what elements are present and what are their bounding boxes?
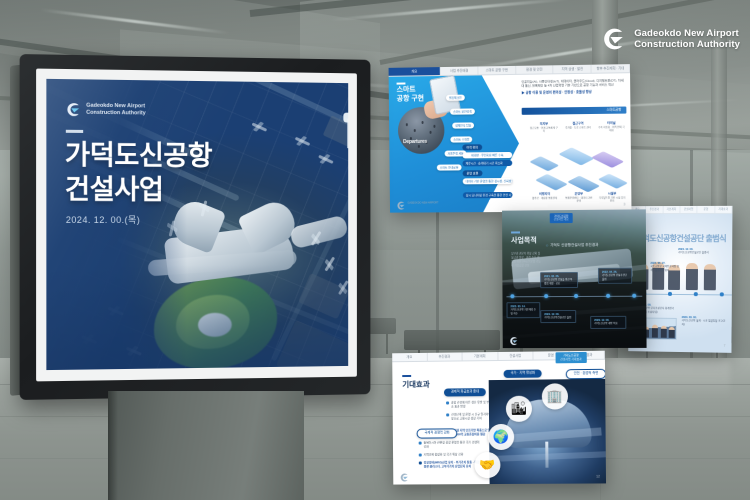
history-page-number: 7 xyxy=(724,344,726,348)
title-rule xyxy=(66,130,83,133)
history-dot-1 xyxy=(668,292,672,296)
effects-nav-tab-3[interactable]: 건설사업 xyxy=(498,352,534,360)
cover-brand-lockup: Gadeokdo New Airport Construction Author… xyxy=(65,101,146,118)
history-nav-tab-5[interactable]: 기대효과 xyxy=(715,206,732,213)
chip-5: 스마트 안내로봇 xyxy=(437,164,462,170)
effects-title-rule xyxy=(402,375,411,377)
effects-nav-tab-0[interactable]: 개요 xyxy=(392,353,427,361)
effects-page-number: 12 xyxy=(596,474,600,478)
effects-tag-3: 국제적 경쟁력 강화 xyxy=(417,428,458,438)
slide-page-number: 3 xyxy=(623,202,625,206)
node-label-4: 운영부 xyxy=(565,191,593,195)
cover-title-line-1: 가덕도신공항 xyxy=(65,138,212,173)
sub-item-0: 비대면 · 무인화된 빠른 수속 xyxy=(462,152,512,158)
sub-item-1: 체류시간 · 승객대기 시간 최소화 xyxy=(462,160,512,166)
nav-tab-3[interactable]: 환경 및 안전 xyxy=(516,65,554,74)
node-label-1: 접근구역 xyxy=(564,121,592,125)
gadeokdo-swoosh-logo-icon xyxy=(600,26,626,52)
node-label-3: 비행지역 xyxy=(531,192,559,196)
iso-block-1 xyxy=(558,147,594,165)
purpose-title-rule xyxy=(511,231,520,233)
smart-lead-text: 인공지능(AI), 사물인터넷(IoT), 빅데이터, 클라우드(Cloud),… xyxy=(521,78,626,88)
effects-tag-0: 국가 · 지역 활성화 xyxy=(504,370,542,378)
smart-airport-body: 인공지능(AI), 사물인터넷(IoT), 빅데이터, 클라우드(Cloud),… xyxy=(521,78,626,95)
cover-title-line-2: 건설사업 xyxy=(65,172,212,207)
effects-tag-1: 안전 · 환경적 측면 xyxy=(566,369,606,379)
sub-item-3: 상시 모니터링 환경 구축을 통한 안전 사고의 사전 예방 xyxy=(463,192,513,198)
timeline-dot-3 xyxy=(606,294,610,298)
history-nav-tab-2[interactable]: 기본계획 xyxy=(663,206,680,213)
cover-brand-line-2: Construction Authority xyxy=(86,110,146,117)
nav-tab-0[interactable]: 개요 xyxy=(389,67,441,76)
timeline-text-2: 가덕도신공항 기본계획 수립 착수 xyxy=(510,309,536,315)
timeline-card-3: 2024. 12. 00. 가덕도신공항건설공단 출범 xyxy=(540,310,576,323)
history-text-1: 국토교통부 국제항공과장 참석 · 설립위원 위촉 xyxy=(650,265,680,272)
node-desc-5: 디지털트윈 기반 시설 유지관리 xyxy=(598,196,626,203)
slide-footer-logo: GADEOKDO NEW AIRPORT xyxy=(396,197,439,207)
history-text-0: 가덕도신공항건설공단 출범식 xyxy=(678,251,726,255)
slide-footer-text: GADEOKDO NEW AIRPORT xyxy=(408,201,439,204)
brand-text: Gadeokdo New Airport Construction Author… xyxy=(634,28,740,51)
timeline-card-1: 2022. 04. 26. 가덕도신공항 건설추진단 출범 xyxy=(598,268,632,284)
cover-slide: Gadeokdo New Airport Construction Author… xyxy=(46,79,348,370)
departures-label: Departures xyxy=(403,139,427,145)
effects-item-3-2: 항공정비(MRO)산업 유치 · 부가가치 창출 · 복합물류 클러스터, 고부… xyxy=(419,460,481,468)
slide-expected-effects[interactable]: 개요 추진경과 기본계획 건설사업 운영 기대효과 가덕도신공항 건설사업 기대… xyxy=(392,351,606,485)
purpose-side-text: 남부권 관문의 위상 강화 및 동남권 물류 · 여객 수요 대응을 위한 24… xyxy=(511,252,541,268)
node-desc-4: 통합운영센터 · 데이터 기반 운영 xyxy=(565,196,593,203)
cover-brand-text: Gadeokdo New Airport Construction Author… xyxy=(86,103,146,117)
iso-block-5 xyxy=(598,174,628,189)
timeline-dot-1 xyxy=(544,294,548,298)
building-icon: 🏢 xyxy=(542,383,568,409)
timeline-card-2: 2023. 03. 14. 가덕도신공항 기본계획 수립 착수 xyxy=(506,302,540,318)
block-title-0: 여객 편의 xyxy=(462,144,482,150)
cover-date: 2024. 12. 00.(목) xyxy=(66,213,140,226)
history-card-1: 2024. 06. 27. 국토교통부 국제항공과장 참석 · 설립위원 위촉 xyxy=(650,262,680,272)
globe-icon: 🌍 xyxy=(488,424,514,450)
chip-3: 스마트 수하물 xyxy=(450,136,472,142)
effects-nav-tab-2[interactable]: 기본계획 xyxy=(463,352,498,360)
timeline-card-0: 2021. 02. 26. 가덕도신공항 건설을 위한 특별법 제정 · 공포 xyxy=(540,272,578,288)
history-dot-2 xyxy=(694,292,698,296)
nav-tab-2[interactable]: 스마트 공항 구현 xyxy=(478,66,516,75)
slide-business-purpose[interactable]: 가덕도신공항 건설사업 개요 사업목적 남부권 관문의 위상 강화 및 동남권 … xyxy=(502,209,647,348)
timeline-text-3: 가덕도신공항건설공단 출범 xyxy=(544,316,572,319)
history-text-3: 가덕도신공항 설계 · 시공 일괄입찰 공고(3차) xyxy=(682,319,726,326)
block-title-1: 운영 효율 xyxy=(463,170,483,176)
brand-line-1: Gadeokdo New Airport xyxy=(634,28,740,40)
smart-lead-highlight: ▶ 공항 이용 및 운영의 편의성 · 안정성 · 효율성 향상 xyxy=(521,90,626,96)
node-desc-2: 수속 자동화 · 여객 편의 극대화 xyxy=(597,126,625,133)
smart-title-line-2: 공항 구현 xyxy=(397,94,424,103)
gadeokdo-swoosh-logo-icon xyxy=(65,101,81,117)
gadeokdo-swoosh-logo-icon xyxy=(399,470,409,480)
timeline-text-1: 가덕도신공항 건설추진단 출범 xyxy=(602,274,628,281)
brand-lockup: Gadeokdo New Airport Construction Author… xyxy=(600,26,740,52)
waiting-seat xyxy=(404,330,500,350)
purpose-footer-logo xyxy=(509,333,519,343)
nav-tab-4[interactable]: 지역 상생 · 발전 xyxy=(554,65,592,74)
smart-section-bar: 스마트공항 xyxy=(522,107,627,115)
timeline-text-4: 가덕도신공항 개항 목표 xyxy=(594,322,622,325)
smart-title-line-1: 스마트 xyxy=(397,85,424,94)
handshake-icon: 🤝 xyxy=(474,452,500,478)
smart-title-rule xyxy=(397,83,406,85)
node-label-0: 육지부 xyxy=(530,121,558,125)
effects-footer-logo xyxy=(399,470,409,480)
city-skyline-icon: 🏙 xyxy=(506,396,532,422)
ceremony-people-photo xyxy=(635,258,727,291)
sub-item-2: 데이터 기반 운영을 통한 정시성, 신뢰성을 갖춘 운영 구현 xyxy=(463,178,513,184)
gadeokdo-swoosh-logo-icon xyxy=(509,333,519,343)
smart-airport-title: 스마트 공항 구현 xyxy=(397,85,424,103)
chip-2: 생체인식 탑승 xyxy=(452,122,474,128)
iso-block-2 xyxy=(591,151,624,168)
node-desc-0: 접근교통 · 연계 교통체계 구축 xyxy=(530,126,558,133)
purpose-badge-line-2: 건설사업 개요 xyxy=(554,218,569,222)
signage-scene: Gadeokdo New Airport Construction Author… xyxy=(0,0,750,500)
purpose-center-caption: 가덕도 신공항건설사업 추진경과 xyxy=(546,243,599,248)
history-card-0: 2024. 12. 00. 가덕도신공항건설공단 출범식 xyxy=(678,248,726,255)
main-signage-monitor[interactable]: Gadeokdo New Airport Construction Author… xyxy=(22,57,374,397)
effects-title: 기대효과 xyxy=(402,379,429,390)
iso-block-3 xyxy=(535,174,568,191)
effects-badge-line-2: 건설사업 기대효과 xyxy=(560,358,582,362)
history-nav-tab-1[interactable]: 추진경과 xyxy=(646,206,663,213)
node-desc-3: 활주로 · 계류장 통합관제 xyxy=(531,197,559,200)
node-label-2: 터미널 xyxy=(597,121,625,125)
timeline-text-0: 가덕도신공항 건설을 위한 특별법 제정 · 공포 xyxy=(544,278,574,285)
timeline-dot-0 xyxy=(510,294,514,298)
effects-nav-tab-1[interactable]: 추진경과 xyxy=(427,352,462,360)
timeline-dot-2 xyxy=(574,294,578,298)
slide-smart-airport[interactable]: 개요 사업 추진배경 스마트 공항 구현 환경 및 안전 지역 상생 · 발전 … xyxy=(389,64,632,213)
iso-block-0 xyxy=(529,156,559,171)
chip-1: 스마트 보안검색 xyxy=(450,108,475,114)
effects-item-3-0: 동북아시아 관문형 공항 운영을 통한 국가 경쟁력 강화 xyxy=(419,440,481,448)
monitor-white-mat: Gadeokdo New Airport Construction Author… xyxy=(36,69,357,382)
page-title: 가덕도신공항 건설사업 xyxy=(65,138,212,207)
timeline-card-4: 2029. 12. 00. 가덕도신공항 개항 목표 xyxy=(590,316,626,329)
node-label-5: 시설부 xyxy=(598,191,626,195)
purpose-title: 사업목적 xyxy=(511,235,537,245)
gadeokdo-swoosh-logo-icon xyxy=(396,198,406,208)
node-desc-1: 주차장 · 도로 스마트 관리 xyxy=(564,126,592,130)
timeline-dot-4 xyxy=(632,294,636,298)
history-nav-tab-3[interactable]: 건설사업 xyxy=(680,206,697,213)
effects-item-3-1: 지역경제 활성화 및 국가 위상 강화 xyxy=(419,452,481,456)
monitor-screen[interactable]: Gadeokdo New Airport Construction Author… xyxy=(46,79,348,370)
effects-top-badge: 가덕도신공항 건설사업 기대효과 xyxy=(555,352,587,364)
purpose-top-badge: 가덕도신공항 건설사업 개요 xyxy=(550,213,573,223)
history-nav-tab-4[interactable]: 운영 xyxy=(698,206,715,213)
chip-0: 셀프체크인 xyxy=(446,95,465,101)
monitor-pedestal-base xyxy=(108,391,304,500)
nav-tab-5[interactable]: 향후 추진계획 · 기대 xyxy=(592,64,630,73)
history-card-3: 2024. 00. 00. 가덕도신공항 설계 · 시공 일괄입찰 공고(3차) xyxy=(682,316,726,327)
history-dot-3 xyxy=(720,292,724,296)
nav-tab-1[interactable]: 사업 추진배경 xyxy=(441,66,478,75)
brand-line-2: Construction Authority xyxy=(634,39,740,51)
iso-block-4 xyxy=(567,176,600,193)
effects-tag-2: 경제적 파급효과 증대 xyxy=(444,388,486,396)
monitor-bezel: Gadeokdo New Airport Construction Author… xyxy=(20,54,371,400)
history-title: 가덕도신공항건설공단 출범식 xyxy=(636,233,726,244)
